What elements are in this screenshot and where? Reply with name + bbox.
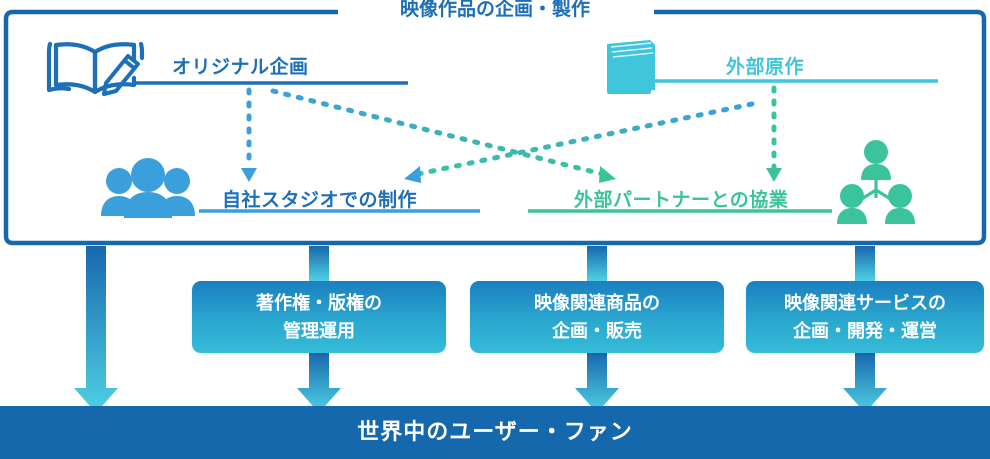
diagram-graphics bbox=[0, 0, 990, 459]
business-card-goods: 映像関連商品の 企画・販売 bbox=[470, 281, 724, 353]
connector-original-to-studio bbox=[241, 90, 257, 182]
business-card-goods-line1: 映像関連商品の bbox=[526, 289, 668, 317]
business-card-services-line2: 企画・開発・運営 bbox=[776, 317, 954, 345]
group-of-people-icon bbox=[101, 158, 195, 218]
closed-book-icon bbox=[607, 40, 655, 94]
business-card-services: 映像関連サービスの 企画・開発・運営 bbox=[746, 281, 984, 353]
business-card-goods-line2: 企画・販売 bbox=[526, 317, 668, 345]
label-external-source: 外部原作 bbox=[726, 52, 804, 79]
label-original-planning: オリジナル企画 bbox=[172, 52, 309, 79]
partner-network-icon bbox=[837, 140, 915, 224]
open-book-with-pencil-icon bbox=[49, 44, 142, 92]
connector-external-to-partner bbox=[766, 88, 782, 182]
business-card-rights-line1: 著作権・版権の bbox=[248, 289, 390, 317]
business-card-services-line1: 映像関連サービスの bbox=[776, 289, 954, 317]
pencil-icon bbox=[104, 56, 138, 94]
connector-external-to-studio bbox=[404, 104, 752, 183]
audience-bar-label: 世界中のユーザー・ファン bbox=[0, 419, 990, 445]
label-in-house-studio: 自社スタジオでの制作 bbox=[222, 185, 417, 212]
business-card-rights: 著作権・版権の 管理運用 bbox=[192, 281, 446, 353]
diagram-canvas: 映像作品の企画・製作 オリジナル企画 外部原作 自社スタジオでの制作 外部パート… bbox=[0, 0, 990, 459]
arrow-to-audience-left bbox=[74, 246, 118, 413]
page-title: 映像作品の企画・製作 bbox=[0, 0, 990, 20]
business-card-rights-line2: 管理運用 bbox=[248, 317, 390, 345]
label-external-partner: 外部パートナーとの協業 bbox=[574, 185, 788, 212]
